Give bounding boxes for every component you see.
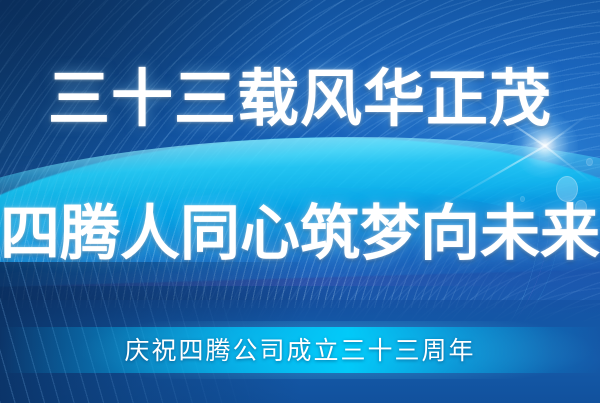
- banner-content: 三十三载风华正茂 四腾人同心筑梦向未来 庆祝四腾公司成立三十三周年: [0, 0, 600, 403]
- anniversary-banner: 三十三载风华正茂 四腾人同心筑梦向未来 庆祝四腾公司成立三十三周年: [0, 0, 600, 403]
- headline-line-2: 四腾人同心筑梦向未来: [0, 200, 600, 268]
- headline-line-1: 三十三载风华正茂: [0, 64, 600, 134]
- subtitle-text: 庆祝四腾公司成立三十三周年: [0, 336, 600, 366]
